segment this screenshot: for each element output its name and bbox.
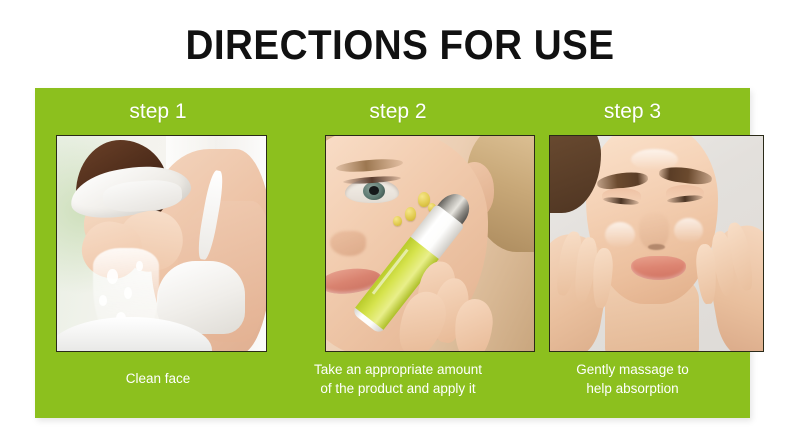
step-image-3 xyxy=(549,135,764,352)
step-caption-3: Gently massage to help absorption xyxy=(515,360,750,398)
step-image-2 xyxy=(325,135,535,352)
step-caption-3-line2: help absorption xyxy=(515,379,750,398)
photo2-nose xyxy=(330,231,365,257)
photo-washing-face xyxy=(57,136,266,351)
photo-applying-serum xyxy=(326,136,534,351)
step-caption-2: Take an appropriate amount of the produc… xyxy=(281,360,515,398)
step-card-1: step 1 xyxy=(35,88,281,418)
step-image-1 xyxy=(56,135,267,352)
photo1-water-drop xyxy=(136,261,142,272)
photo3-nostril xyxy=(648,244,665,250)
step-card-2: step 2 xyxy=(281,88,515,418)
photo1-water-drop xyxy=(99,295,107,306)
photo1-water-drop xyxy=(107,269,117,284)
step-caption-3-line1: Gently massage to xyxy=(515,360,750,379)
step-caption-2-line1: Take an appropriate amount xyxy=(281,360,515,379)
photo-massaging-face xyxy=(550,136,763,351)
steps-panel: step 1 xyxy=(35,88,750,418)
step-label-3: step 3 xyxy=(515,98,750,126)
step-caption-2-line2: of the product and apply it xyxy=(281,379,515,398)
step-caption-1: Clean face xyxy=(35,369,281,388)
step-label-1: step 1 xyxy=(35,98,281,126)
photo3-forehead-highlight xyxy=(631,149,678,171)
step-card-3: step 3 xyxy=(515,88,750,418)
step-label-2: step 2 xyxy=(281,98,515,126)
photo3-cheek-highlight xyxy=(605,222,635,248)
page-title: DIRECTIONS FOR USE xyxy=(32,20,768,70)
